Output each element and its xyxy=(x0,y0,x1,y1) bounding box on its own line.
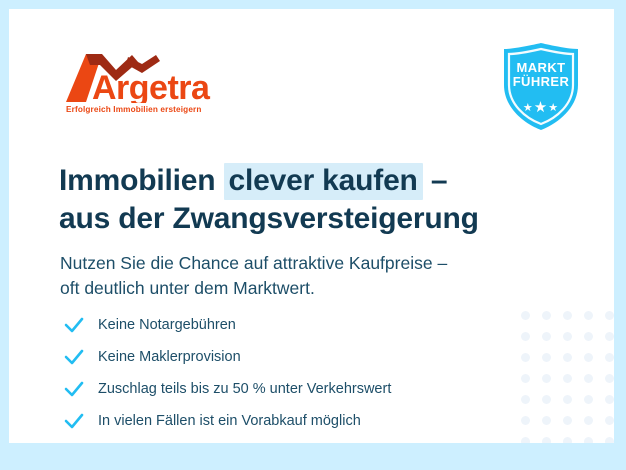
page-title: Immobilien clever kaufen – aus der Zwang… xyxy=(59,162,579,238)
dot xyxy=(563,353,572,362)
dot xyxy=(542,311,551,320)
benefit-label: Keine Maklerprovision xyxy=(98,350,241,365)
subheading-line-2: oft deutlich unter dem Marktwert. xyxy=(60,276,580,302)
dot xyxy=(563,395,572,404)
benefit-label: Zuschlag teils bis zu 50 % unter Verkehr… xyxy=(98,382,391,397)
list-item: Zuschlag teils bis zu 50 % unter Verkehr… xyxy=(63,373,533,405)
dot xyxy=(563,374,572,383)
logo-tagline: Erfolgreich Immobilien ersteigern xyxy=(66,105,202,114)
banner-card: Argetra Erfolgreich Immobilien ersteiger… xyxy=(9,9,614,443)
headline-line-2: aus der Zwangsversteigerung xyxy=(59,200,579,238)
dot xyxy=(542,416,551,425)
check-icon xyxy=(63,410,85,432)
dot xyxy=(563,416,572,425)
subheading-line-1: Nutzen Sie die Chance auf attraktive Kau… xyxy=(60,251,580,277)
dot xyxy=(584,374,593,383)
headline-highlight: clever kaufen xyxy=(224,163,423,200)
dot xyxy=(521,437,530,443)
dot xyxy=(542,332,551,341)
dot xyxy=(563,437,572,443)
dot xyxy=(542,395,551,404)
dot xyxy=(584,395,593,404)
badge-text: MARKT FÜHRER xyxy=(498,61,584,88)
dot xyxy=(605,311,614,320)
subheading: Nutzen Sie die Chance auf attraktive Kau… xyxy=(60,251,580,303)
dot xyxy=(605,437,614,443)
dot xyxy=(605,332,614,341)
dot xyxy=(563,332,572,341)
check-icon xyxy=(63,378,85,400)
dot-row xyxy=(521,353,614,362)
dot xyxy=(584,437,593,443)
headline-line-1: Immobilien clever kaufen – xyxy=(59,162,579,200)
dot xyxy=(584,416,593,425)
dot-row xyxy=(521,437,614,443)
argetra-logo[interactable]: Argetra Erfolgreich Immobilien ersteiger… xyxy=(64,53,214,115)
dot-row xyxy=(521,374,614,383)
star-icon: ★ xyxy=(523,102,534,114)
promo-banner: Argetra Erfolgreich Immobilien ersteiger… xyxy=(0,0,626,470)
dot xyxy=(542,353,551,362)
headline-text-after: – xyxy=(423,164,448,197)
argetra-logo-icon: Argetra xyxy=(64,53,214,103)
badge-line-2: FÜHRER xyxy=(498,75,584,89)
benefit-label: Keine Notargebühren xyxy=(98,318,236,333)
dot xyxy=(584,311,593,320)
dot-row xyxy=(521,332,614,341)
dot xyxy=(584,353,593,362)
check-icon xyxy=(63,314,85,336)
star-icon: ★ xyxy=(534,99,548,116)
dot xyxy=(584,332,593,341)
dot xyxy=(542,437,551,443)
dot xyxy=(542,374,551,383)
list-item: In vielen Fällen ist ein Vorabkauf mögli… xyxy=(63,405,533,437)
dot xyxy=(605,416,614,425)
list-item: Keine Maklerprovision xyxy=(63,341,533,373)
dot-row xyxy=(521,416,614,425)
dot xyxy=(563,311,572,320)
list-item: Keine Notargebühren xyxy=(63,309,533,341)
market-leader-badge: MARKT FÜHRER ★★★ xyxy=(498,41,584,133)
star-icon: ★ xyxy=(548,102,559,114)
dot xyxy=(605,374,614,383)
benefits-list: Keine Notargebühren Keine Maklerprovisio… xyxy=(63,309,533,437)
dot-grid-decoration xyxy=(521,311,614,443)
headline-text-before: Immobilien xyxy=(59,164,224,197)
dot-row xyxy=(521,395,614,404)
badge-line-1: MARKT xyxy=(498,61,584,75)
dot xyxy=(605,395,614,404)
dot xyxy=(605,353,614,362)
benefit-label: In vielen Fällen ist ein Vorabkauf mögli… xyxy=(98,414,361,429)
dot-row xyxy=(521,311,614,320)
check-icon xyxy=(63,346,85,368)
badge-stars: ★★★ xyxy=(498,98,584,116)
svg-text:Argetra: Argetra xyxy=(92,69,211,103)
